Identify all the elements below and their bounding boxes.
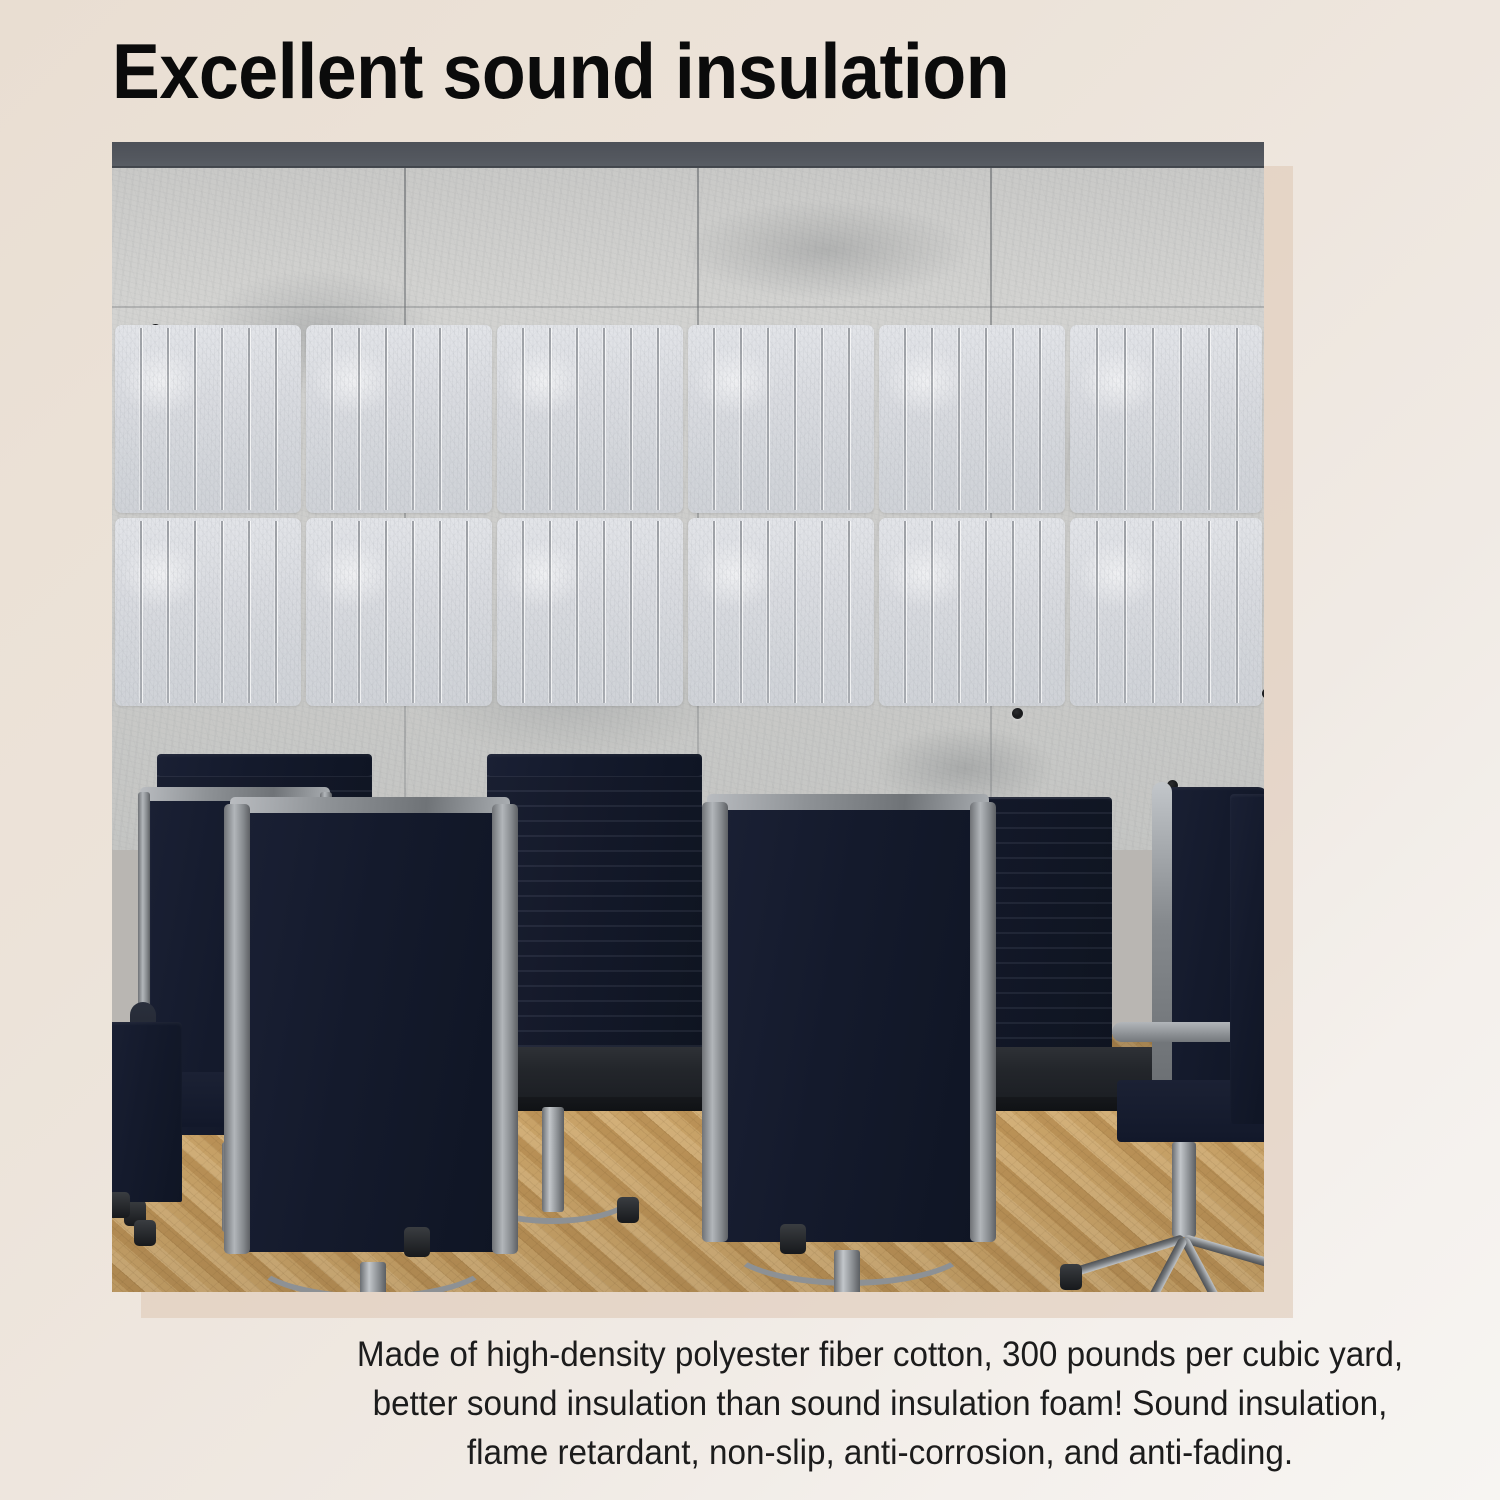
chair-caster [404,1227,430,1257]
chair-caster [134,1220,156,1246]
panel-fiber-texture [1070,518,1262,706]
panel-fiber-texture [879,518,1065,706]
panel-fiber-texture [497,325,683,513]
acoustic-panel [1070,325,1262,513]
panel-fiber-texture [688,325,874,513]
panel-fiber-texture [688,518,874,706]
acoustic-panel [497,518,683,706]
caption-line-3: flame retardant, non-slip, anti-corrosio… [329,1428,1431,1477]
acoustic-panel [115,518,301,706]
chair-caster [1060,1264,1082,1290]
acoustic-panel-row-2 [112,518,1264,706]
acoustic-panel [879,518,1065,706]
wall-tie-hole [1012,708,1023,719]
acoustic-panel [306,518,492,706]
chair-post [224,804,250,1254]
acoustic-panel [115,325,301,513]
caption-line-2: better sound insulation than sound insul… [329,1379,1431,1428]
panel-fiber-texture [115,325,301,513]
acoustic-panel [306,325,492,513]
page-title: Excellent sound insulation [112,28,1124,114]
chair-top-rail [707,794,989,810]
caption-line-1: Made of high-density polyester fiber cot… [329,1330,1431,1379]
acoustic-panel-row-1 [112,325,1264,513]
acoustic-panel [879,325,1065,513]
chair-caster [617,1197,639,1223]
chair-post [702,802,728,1242]
acoustic-panel [688,518,874,706]
chair-caster [780,1224,806,1254]
wall-seam-horizontal [112,306,1264,308]
panel-fiber-texture [306,518,492,706]
chair-column [1172,1142,1196,1237]
chair-column [834,1250,860,1292]
acoustic-panel [497,325,683,513]
page-title-container: Excellent sound insulation [112,28,1212,120]
chair-post [492,804,518,1254]
chair-top-rail [230,797,510,813]
product-scene-photo [112,142,1264,1292]
acoustic-panel [688,325,874,513]
chair-post [970,802,996,1242]
acoustic-panel [1070,518,1262,706]
panel-fiber-texture [1070,325,1262,513]
ceiling-band [112,142,1264,170]
chair-caster [112,1192,130,1218]
panel-fiber-texture [879,325,1065,513]
chair-column [360,1262,386,1292]
panel-fiber-texture [306,325,492,513]
product-description-caption: Made of high-density polyester fiber cot… [329,1330,1431,1477]
panel-fiber-texture [115,518,301,706]
panel-fiber-texture [497,518,683,706]
